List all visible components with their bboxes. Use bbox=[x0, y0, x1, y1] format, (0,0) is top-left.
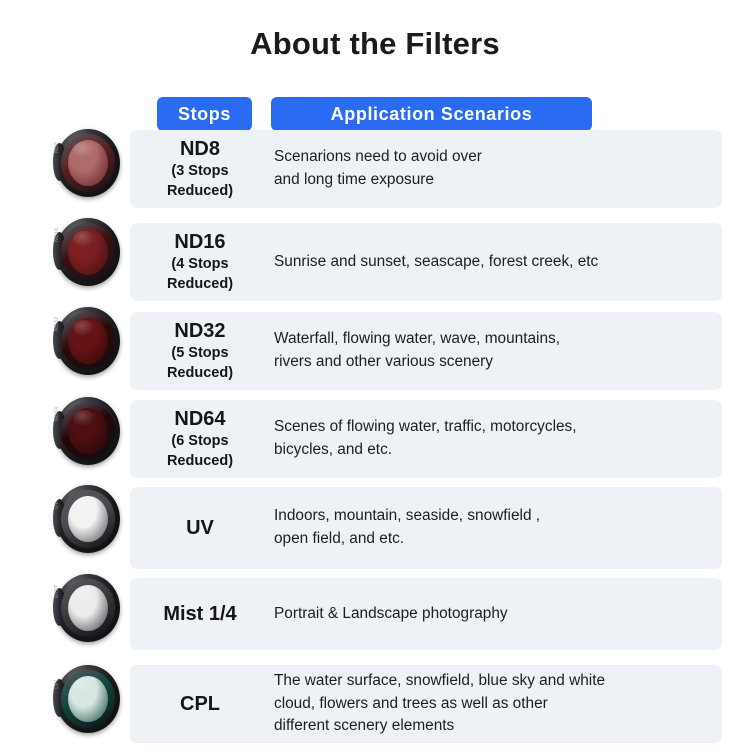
scenario-line-1: Scenarions need to avoid over bbox=[274, 146, 716, 169]
filter-name: ND64 bbox=[174, 408, 225, 431]
filter-name: ND32 bbox=[174, 320, 225, 343]
scenario-cell: The water surface, snowfield, blue sky a… bbox=[274, 665, 716, 743]
scenario-line-1: Waterfall, flowing water, wave, mountain… bbox=[274, 328, 716, 351]
scenario-line-1: The water surface, snowfield, blue sky a… bbox=[274, 670, 716, 693]
stops-cell: UV bbox=[132, 487, 268, 569]
stops-cell: ND8(3 StopsReduced) bbox=[132, 130, 268, 208]
stops-sub-line-2: Reduced) bbox=[167, 453, 233, 471]
scenario-line-1: Indoors, mountain, seaside, snowfield , bbox=[274, 505, 716, 528]
table-row: ND8(3 StopsReduced)Scenarions need to av… bbox=[0, 130, 750, 208]
filters-info-page: About the Filters Stops Application Scen… bbox=[0, 0, 750, 750]
scenario-line-3: different scenery elements bbox=[274, 715, 716, 738]
stops-sub-line-2: Reduced) bbox=[167, 365, 233, 383]
scenario-cell: Indoors, mountain, seaside, snowfield ,o… bbox=[274, 487, 716, 569]
scenario-cell: Sunrise and sunset, seascape, forest cre… bbox=[274, 223, 716, 301]
filter-name: Mist 1/4 bbox=[163, 603, 236, 626]
filter-name: ND8 bbox=[180, 138, 220, 161]
scenario-line-1: Portrait & Landscape photography bbox=[274, 603, 716, 626]
filter-name: ND16 bbox=[174, 231, 225, 254]
scenario-line-1: Scenes of flowing water, traffic, motorc… bbox=[274, 416, 716, 439]
scenario-cell: Portrait & Landscape photography bbox=[274, 578, 716, 650]
scenario-line-2: rivers and other various scenery bbox=[274, 351, 716, 374]
stops-cell: ND16(4 StopsReduced) bbox=[132, 223, 268, 301]
stops-sub-line-1: (4 Stops bbox=[171, 256, 228, 274]
table-row: ND16(4 StopsReduced)Sunrise and sunset, … bbox=[0, 223, 750, 301]
stops-cell: ND32(5 StopsReduced) bbox=[132, 312, 268, 390]
stops-sub-line-2: Reduced) bbox=[167, 183, 233, 201]
stops-sub-line-1: (6 Stops bbox=[171, 433, 228, 451]
scenario-cell: Scenes of flowing water, traffic, motorc… bbox=[274, 400, 716, 478]
scenario-cell: Scenarions need to avoid overand long ti… bbox=[274, 130, 716, 208]
table-row: UVIndoors, mountain, seaside, snowfield … bbox=[0, 487, 750, 569]
table-row: Mist 1/4Portrait & Landscape photography bbox=[0, 578, 750, 650]
scenario-line-2: open field, and etc. bbox=[274, 528, 716, 551]
stops-sub-line-2: Reduced) bbox=[167, 276, 233, 294]
stops-sub-line-1: (3 Stops bbox=[171, 163, 228, 181]
stops-cell: CPL bbox=[132, 665, 268, 743]
filters-table: ND8ND8(3 StopsReduced)Scenarions need to… bbox=[0, 0, 750, 750]
stops-cell: ND64(6 StopsReduced) bbox=[132, 400, 268, 478]
scenario-line-2: cloud, flowers and trees as well as othe… bbox=[274, 693, 716, 716]
table-row: CPLThe water surface, snowfield, blue sk… bbox=[0, 665, 750, 743]
stops-sub-line-1: (5 Stops bbox=[171, 345, 228, 363]
stops-cell: Mist 1/4 bbox=[132, 578, 268, 650]
table-row: ND32(5 StopsReduced)Waterfall, flowing w… bbox=[0, 312, 750, 390]
scenario-cell: Waterfall, flowing water, wave, mountain… bbox=[274, 312, 716, 390]
filter-name: UV bbox=[186, 517, 214, 540]
scenario-line-2: bicycles, and etc. bbox=[274, 439, 716, 462]
filter-name: CPL bbox=[180, 693, 220, 716]
scenario-line-2: and long time exposure bbox=[274, 169, 716, 192]
table-row: ND64(6 StopsReduced)Scenes of flowing wa… bbox=[0, 400, 750, 478]
scenario-line-1: Sunrise and sunset, seascape, forest cre… bbox=[274, 251, 716, 274]
